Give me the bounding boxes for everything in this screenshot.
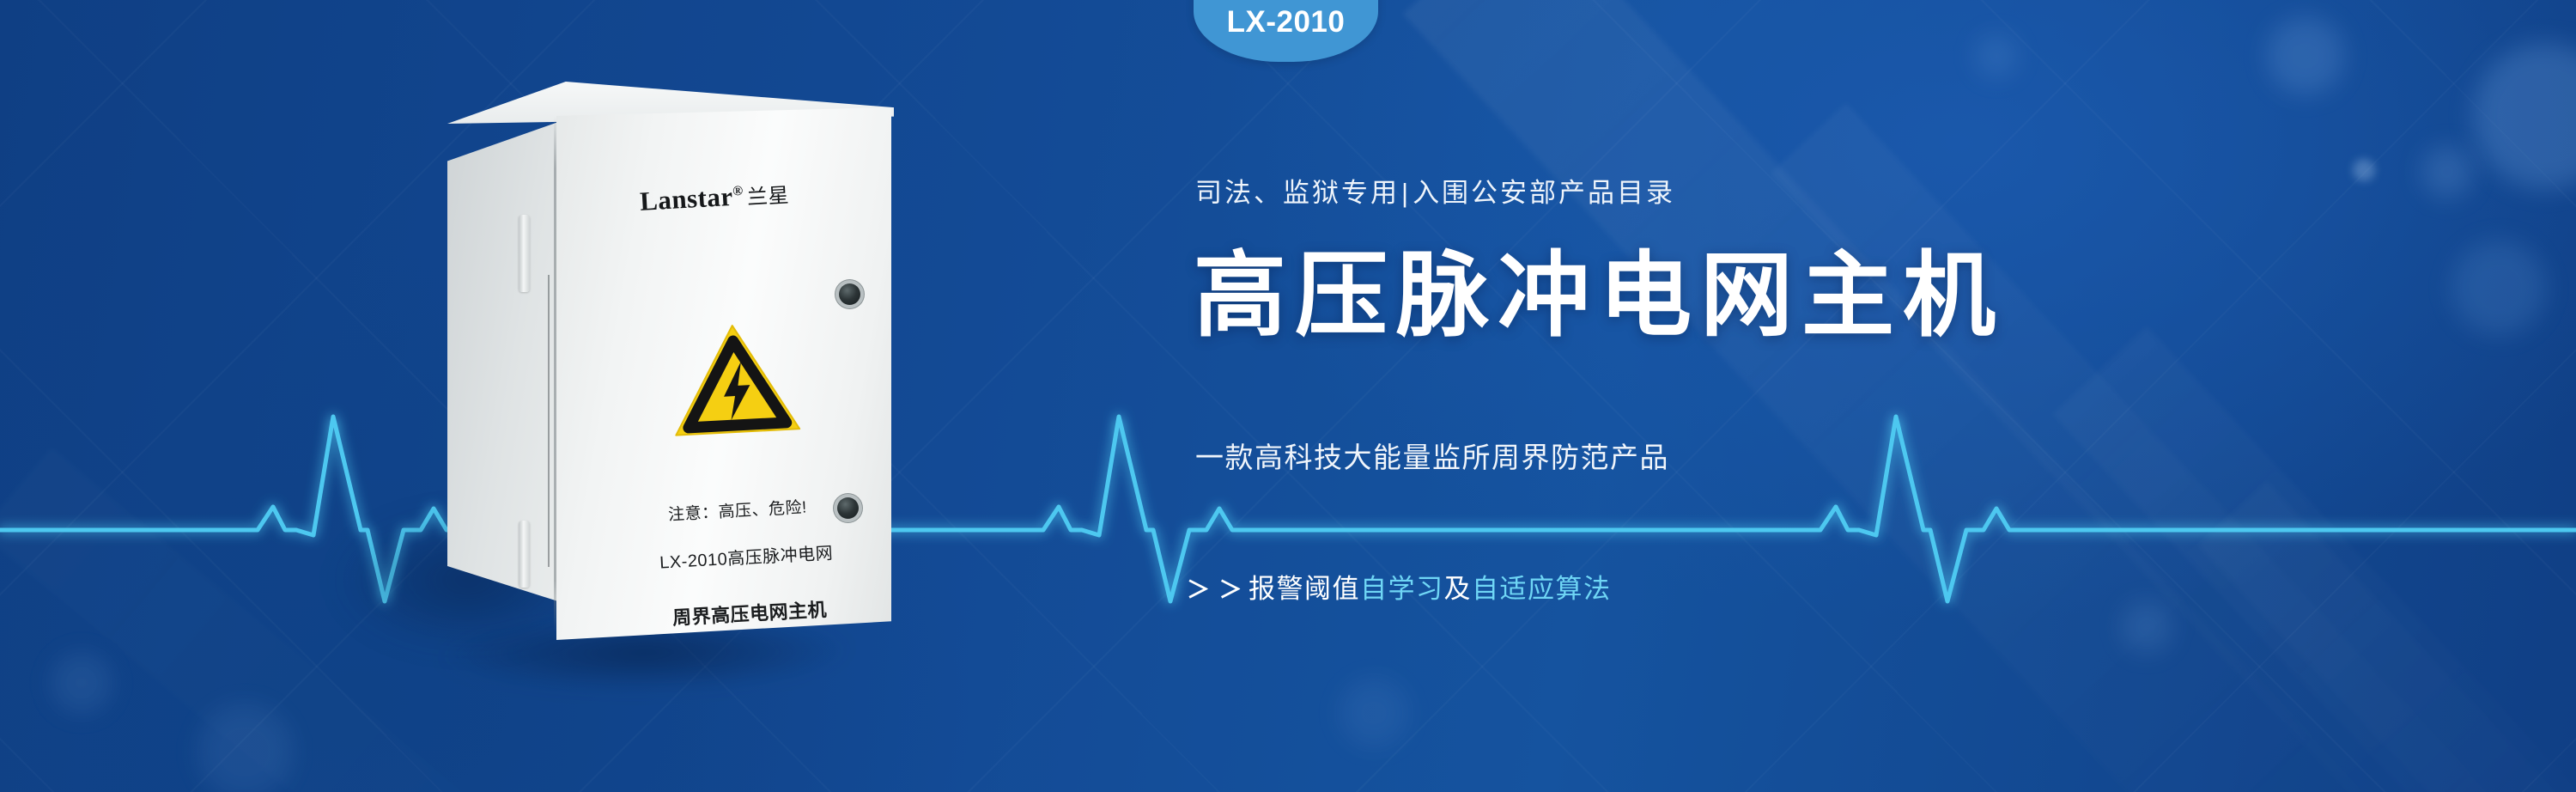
bokeh-light [2451, 241, 2546, 335]
cabinet-door-gap [548, 275, 550, 567]
product-image: Lanstar®兰星 注意：高压、危险! LX-2010高压脉冲电网 周界高压电… [0, 0, 945, 792]
brand-name-cn: 兰星 [746, 184, 789, 210]
bokeh-light [2121, 601, 2172, 653]
bokeh-light [2421, 146, 2473, 198]
model-badge-label: LX-2010 [1227, 5, 1346, 62]
cabinet-side-face [447, 121, 561, 602]
cabinet-hinge-upper [519, 215, 530, 292]
bokeh-light [2473, 43, 2576, 189]
feature-highlight-line: ＞ ＞报警阈值自学习及自适应算法 [1187, 567, 1612, 606]
bokeh-light [1975, 34, 2018, 77]
indicator-light-lower [837, 497, 859, 519]
indicator-light-upper [839, 283, 860, 305]
product-hero-banner: Lanstar®兰星 注意：高压、危险! LX-2010高压脉冲电网 周界高压电… [0, 0, 2576, 792]
bokeh-light [2353, 159, 2375, 181]
feature-text-part1: 报警阈值 [1249, 574, 1360, 604]
banner-headline: 高压脉冲电网主机 [1194, 249, 2004, 342]
feature-text-part2: 及 [1444, 574, 1473, 604]
subtitle-right-text: 入围公安部产品目录 [1413, 178, 1675, 208]
feature-highlight-1: 自学习 [1360, 574, 1444, 604]
feature-highlight-2: 自适应算法 [1472, 574, 1612, 604]
subtitle-divider: | [1400, 178, 1413, 208]
brand-name: Lanstar [639, 181, 733, 216]
banner-subtitle: 司法、监狱专用|入围公安部产品目录 [1195, 171, 1675, 210]
high-voltage-warning-icon [667, 317, 804, 441]
banner-tagline: 一款高科技大能量监所周界防范产品 [1195, 435, 1669, 476]
cabinet-door-seam [554, 117, 556, 632]
cabinet-hinge-lower [519, 521, 530, 588]
subtitle-left-text: 司法、监狱专用 [1195, 178, 1400, 208]
bokeh-light [2267, 17, 2344, 94]
bokeh-light [1340, 679, 1408, 747]
registered-mark-icon: ® [732, 184, 744, 199]
chevron-right-icon: ＞ ＞ [1187, 577, 1243, 603]
